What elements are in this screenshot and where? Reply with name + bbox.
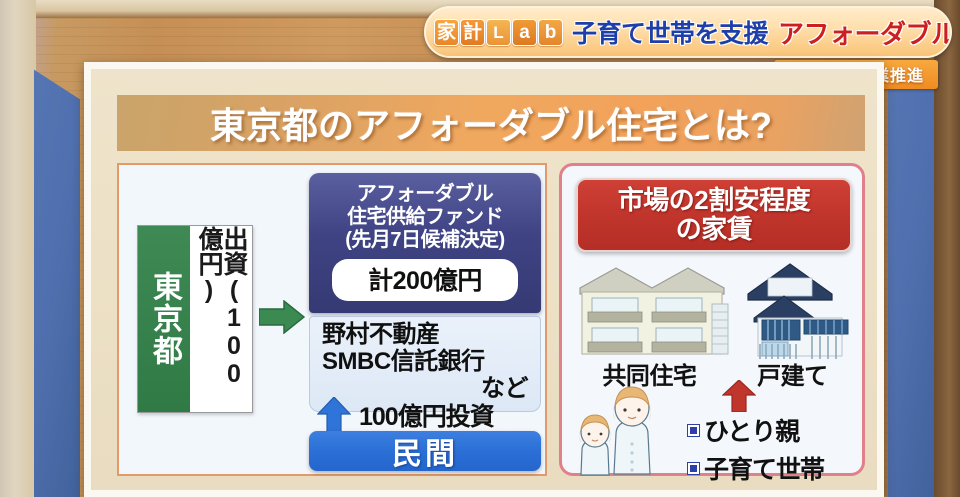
broadcast-screen: 家 計 L a b 子育て世帯を支援 アフォーダブル住宅とは 東京都が事業推進 … [0, 0, 960, 497]
rent-headline-line2: の家賃 [676, 215, 753, 244]
logo-tile-5: b [538, 19, 563, 46]
fund-name-line2: 住宅供給ファンド [317, 206, 533, 229]
funding-flow-panel: 東京都 出資(100億円) アフォーダブル 住宅供給ファンド (先月7日候補決定… [117, 163, 547, 476]
banner-main-topic: アフォーダブル住宅とは [778, 14, 952, 51]
target-label-1: 子育て世帯 [704, 450, 824, 486]
graphic-board-inner: 東京都のアフォーダブル住宅とは? 東京都 出資(100億円) [91, 69, 877, 490]
logo-tile-3: L [486, 19, 511, 46]
house-type-label-1: 戸建て [757, 356, 828, 391]
rent-headline-box: 市場の2割安程度 の家賃 [576, 178, 852, 252]
parent-and-child-icon [570, 384, 682, 476]
partner-line2: SMBC信託銀行 [322, 349, 528, 376]
studio-blue-panel-left [34, 0, 80, 497]
rent-headline-line1: 市場の2割安程度 [618, 186, 810, 215]
list-item: 子育て世帯 [688, 450, 824, 486]
graphic-board: 東京都のアフォーダブル住宅とは? 東京都 出資(100億円) [84, 62, 884, 497]
fund-stack: アフォーダブル 住宅供給ファンド (先月7日候補決定) 計200億円 野村不動産… [309, 173, 541, 412]
target-label-0: ひとり親 [704, 412, 799, 448]
logo-tile-4: a [512, 19, 537, 46]
news-banner: 家 計 L a b 子育て世帯を支援 アフォーダブル住宅とは [424, 6, 952, 58]
arrow-right-icon [259, 300, 305, 334]
private-sector-box: 民間 [309, 431, 541, 471]
fund-name-line1: アフォーダブル [317, 183, 533, 206]
tokyo-entity-label: 東京都 [142, 271, 186, 367]
private-investment-row: 100億円投資 [309, 397, 541, 433]
bullet-square-icon [688, 425, 699, 436]
detached-house-icon [748, 264, 848, 359]
fund-decision-note: (先月7日候補決定) [317, 229, 533, 252]
outcome-panel: 市場の2割安程度 の家賃 [559, 163, 865, 476]
tokyo-contribution-label: 出資(100億円) [196, 226, 246, 412]
board-title-bar: 東京都のアフォーダブル住宅とは? [117, 95, 865, 151]
tokyo-contribution-box: 出資(100億円) [190, 226, 252, 412]
logo-tile-1: 家 [434, 19, 459, 46]
list-item: ひとり親 [688, 412, 824, 448]
studio-wall-left-edge [0, 0, 36, 497]
fund-total-amount: 計200億円 [332, 259, 518, 301]
fund-box: アフォーダブル 住宅供給ファンド (先月7日候補決定) 計200億円 [309, 173, 541, 313]
apartment-building-icon [580, 268, 728, 354]
private-sector-label: 民間 [392, 429, 458, 473]
arrow-up-red-icon [722, 380, 756, 412]
banner-headline: 子育て世帯を支援 [572, 14, 768, 50]
private-investment-label: 100億円投資 [359, 397, 494, 433]
target-household-list: ひとり親 子育て世帯 [688, 412, 824, 488]
bullet-square-icon [688, 463, 699, 474]
housing-illustrations [572, 260, 858, 360]
arrow-up-icon [317, 397, 351, 433]
logo-tile-2: 計 [460, 19, 485, 46]
page-title: 東京都のアフォーダブル住宅とは? [210, 97, 772, 149]
tokyo-metropolis-block: 東京都 出資(100億円) [137, 225, 253, 413]
partner-line1: 野村不動産 [322, 322, 528, 349]
program-logo: 家 計 L a b [434, 19, 563, 46]
tokyo-entity-box: 東京都 [138, 226, 190, 412]
